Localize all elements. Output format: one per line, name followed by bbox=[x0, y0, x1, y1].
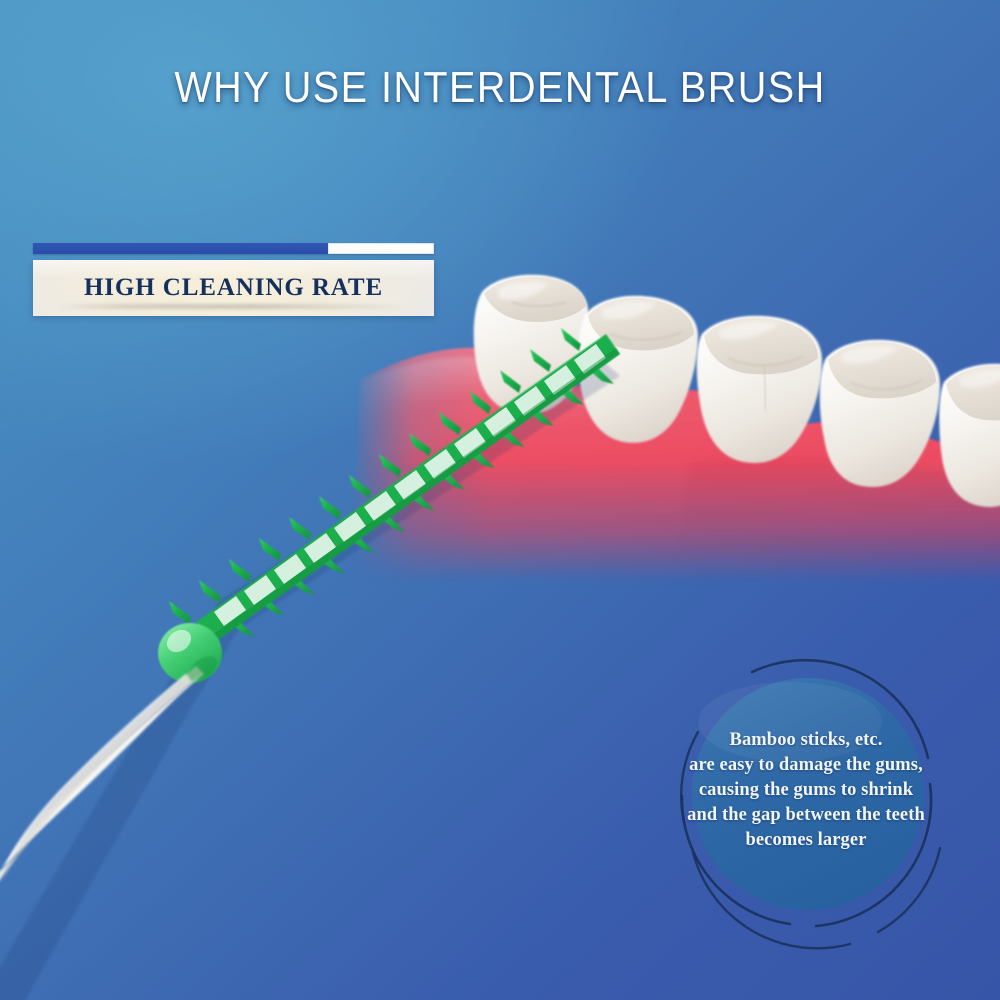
callout-line: are easy to damage the gums, bbox=[660, 753, 952, 778]
product-infographic-poster: WHY USE INTERDENTAL BRUSH HIGH CLEANING … bbox=[0, 0, 1000, 1000]
banner-bar-white-segment bbox=[328, 243, 434, 254]
high-cleaning-rate-banner: HIGH CLEANING RATE bbox=[33, 243, 434, 316]
banner-panel: HIGH CLEANING RATE bbox=[33, 260, 434, 316]
banner-bar-blue-segment bbox=[33, 243, 328, 254]
callout-line: Bamboo sticks, etc. bbox=[660, 728, 952, 753]
mouth-illustration bbox=[390, 262, 1000, 582]
page-title: WHY USE INTERDENTAL BRUSH bbox=[50, 62, 950, 114]
brush-bulb bbox=[158, 623, 222, 685]
callout-line: causing the gums to shrink bbox=[660, 778, 952, 803]
banner-label: HIGH CLEANING RATE bbox=[84, 274, 383, 302]
callout-circle: Bamboo sticks, etc. are easy to damage t… bbox=[640, 636, 970, 956]
callout-line: and the gap between the teeth bbox=[660, 803, 952, 828]
callout-line: becomes larger bbox=[660, 828, 952, 853]
brush-handle bbox=[0, 666, 204, 1000]
callout-text: Bamboo sticks, etc. are easy to damage t… bbox=[660, 728, 952, 853]
banner-progress-bar bbox=[33, 243, 434, 254]
